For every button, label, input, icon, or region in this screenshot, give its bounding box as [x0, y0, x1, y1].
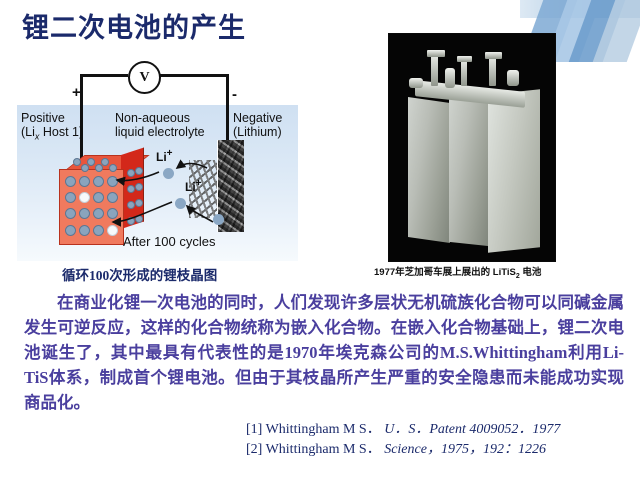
electrolyte-label: Non-aqueous liquid electrolyte — [115, 111, 205, 139]
battery-fitting-3 — [409, 78, 423, 88]
reference-item-1: [1] Whittingham M S． U．S．Patent 4009052．… — [246, 420, 560, 440]
positive-terminal-sign: + — [72, 84, 81, 101]
slide-title: 锂二次电池的产生 — [22, 6, 246, 45]
battery-terminal-cap-1 — [427, 50, 445, 57]
electrolyte-label-line2: liquid electrolyte — [115, 125, 205, 139]
battery-cell-left — [408, 97, 450, 243]
slide-canvas: 锂二次电池的产生 V + - Positive (Lix Host 1) Non… — [0, 0, 640, 480]
negative-terminal-sign: - — [232, 86, 237, 103]
negative-label-line1: Negative — [233, 111, 282, 125]
battery-cell-right — [488, 89, 540, 252]
body-paragraph: 在商业化锂一次电池的同时，人们发现许多层状无机硫族化合物可以同碱金属发生可逆反应… — [24, 290, 624, 415]
negative-label-line2: (Lithium) — [233, 125, 282, 139]
chevron-shape-4 — [588, 0, 640, 62]
positive-label-line1: Positive — [21, 111, 83, 125]
negative-electrode-label: Negative (Lithium) — [233, 111, 282, 139]
li-plus-label-1: Li+ — [156, 148, 173, 164]
litis2-battery-photo — [388, 33, 556, 262]
battery-schematic-figure: V + - Positive (Lix Host 1) Non-aqueous … — [17, 56, 298, 261]
voltmeter-label: V — [139, 70, 149, 86]
reference-list: [1] Whittingham M S． U．S．Patent 4009052．… — [246, 420, 560, 460]
li-plus-label-2: Li+ — [185, 178, 202, 194]
chevron-band — [520, 0, 640, 18]
body-text: 在商业化锂一次电池的同时，人们发现许多层状无机硫族化合物可以同碱金属发生可逆反应… — [24, 290, 624, 415]
intercalation-host-cube — [59, 155, 151, 243]
after-cycles-label: After 100 cycles — [123, 234, 216, 249]
reference-item-2: [2] Whittingham M S． Science，1975，192：12… — [246, 440, 560, 460]
lithium-ion-particle-2 — [175, 198, 186, 209]
battery-terminal-cap-2 — [457, 56, 472, 62]
battery-fitting-2 — [507, 70, 519, 86]
positive-label-line2: (Lix Host 1) — [21, 125, 83, 144]
photo-caption: 1977年芝加哥车展上展出的 LiTiS2 电池 — [374, 264, 594, 280]
battery-cell-middle — [449, 94, 489, 246]
battery-terminal-2 — [461, 58, 467, 86]
circuit-wire-top-right — [157, 74, 229, 77]
battery-terminal-cap-3 — [485, 52, 502, 59]
positive-electrode-label: Positive (Lix Host 1) — [21, 111, 83, 144]
battery-terminal-1 — [431, 52, 438, 86]
figure-caption: 循环100次形成的锂枝晶图 — [62, 264, 217, 284]
cube-front-face — [59, 169, 124, 245]
circuit-wire-top-left — [80, 74, 128, 77]
lithium-ion-particle-3 — [213, 214, 224, 225]
lithium-ion-particle-1 — [163, 168, 174, 179]
battery-fitting-1 — [445, 68, 455, 88]
voltmeter-icon: V — [128, 61, 161, 94]
electrolyte-label-line1: Non-aqueous — [115, 111, 205, 125]
chevron-shape-3 — [564, 0, 631, 62]
